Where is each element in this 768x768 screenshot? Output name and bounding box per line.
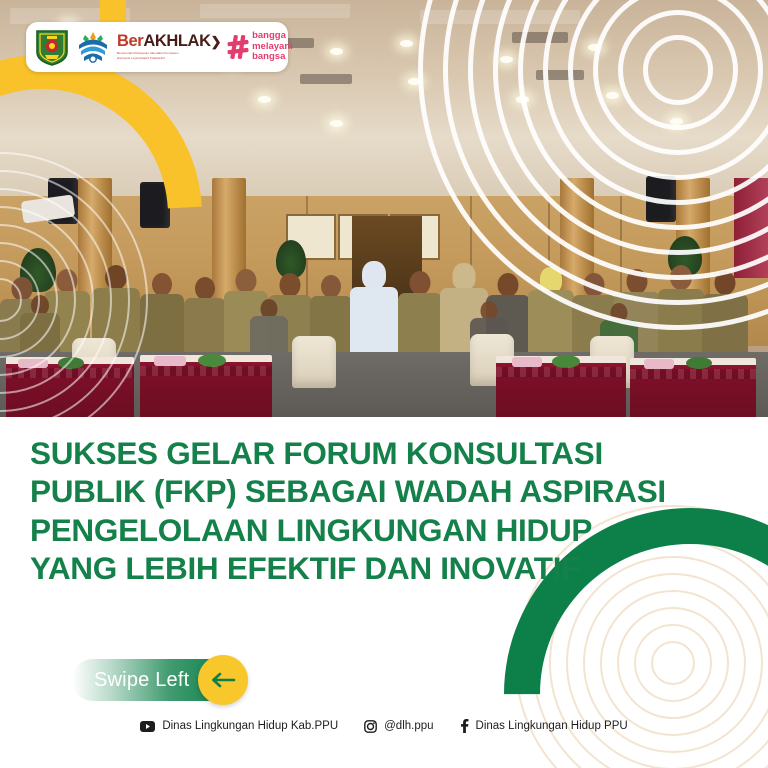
poster-canvas: BerAKHLAK❯ Berorientasi Pelayanan Akunta… [0, 0, 768, 768]
bangga-melayani-bangsa-lockup: bangga melayani bangsa [227, 31, 293, 63]
head-table [140, 355, 272, 417]
berakhlak-prefix: Ber [117, 32, 143, 50]
ceiling-panel [200, 4, 350, 18]
social-instagram-label: @dlh.ppu [384, 720, 433, 732]
berakhlak-word: BerAKHLAK❯ [117, 33, 221, 50]
head-table [496, 356, 626, 417]
ceiling-vent [300, 74, 352, 84]
facebook-icon [460, 719, 469, 733]
bangga-tagline: bangga melayani bangsa [252, 31, 293, 63]
swipe-left-button[interactable]: Swipe Left [72, 655, 248, 705]
table-flower [198, 354, 226, 367]
ceiling-light [400, 40, 413, 47]
table-flower [686, 357, 712, 369]
social-footer: Dinas Lingkungan Hidup Kab.PPU @dlh.ppu … [0, 719, 768, 733]
head-table [630, 358, 756, 417]
table-decor [512, 357, 542, 367]
social-youtube-label: Dinas Lingkungan Hidup Kab.PPU [162, 720, 338, 732]
institution-logo-bar: BerAKHLAK❯ Berorientasi Pelayanan Akunta… [26, 22, 288, 72]
instagram-icon [364, 720, 377, 733]
arrow-left-icon [210, 670, 236, 690]
headline-line-3: PENGELOLAAN LINGKUNGAN HIDUP [30, 511, 702, 549]
headline-line-1: SUKSES GELAR FORUM KONSULTASI [30, 434, 702, 472]
ceiling-light [330, 48, 343, 55]
tagline-line-3: bangsa [252, 52, 293, 63]
table-decor [154, 356, 186, 366]
asn-corevalues-icon [75, 30, 111, 64]
social-facebook[interactable]: Dinas Lingkungan Hidup PPU [460, 719, 628, 733]
poster-headline: SUKSES GELAR FORUM KONSULTASI PUBLIK (FK… [30, 434, 702, 588]
berakhlak-subtitle-line-1: Berorientasi Pelayanan Akuntabel Kompete… [117, 51, 221, 55]
swipe-left-circle[interactable] [198, 655, 248, 705]
ceiling-light [258, 96, 271, 103]
regency-crest-icon [35, 28, 69, 66]
ceiling-light [330, 120, 343, 127]
headline-line-2: PUBLIK (FKP) SEBAGAI WADAH ASPIRASI [30, 472, 702, 510]
berakhlak-tick: ❯ [211, 34, 222, 49]
berakhlak-suffix: AKHLAK [143, 32, 210, 50]
concentric-rings-top-right [468, 0, 768, 280]
swipe-left-label: Swipe Left [94, 669, 189, 692]
table-flower [552, 355, 580, 368]
social-instagram[interactable]: @dlh.ppu [364, 720, 433, 733]
headline-line-4: YANG LEBIH EFEKTIF DAN INOVATIF [30, 549, 702, 587]
social-youtube[interactable]: Dinas Lingkungan Hidup Kab.PPU [140, 720, 338, 732]
table-decor [644, 359, 674, 369]
hall-chair [292, 336, 336, 388]
berakhlak-wordmark: BerAKHLAK❯ Berorientasi Pelayanan Akunta… [117, 33, 221, 60]
hashtag-icon [227, 34, 249, 60]
youtube-icon [140, 721, 155, 732]
social-facebook-label: Dinas Lingkungan Hidup PPU [476, 720, 628, 732]
berakhlak-subtitle-line-2: Harmonis Loyal Adaptif Kolaboratif [117, 56, 221, 60]
